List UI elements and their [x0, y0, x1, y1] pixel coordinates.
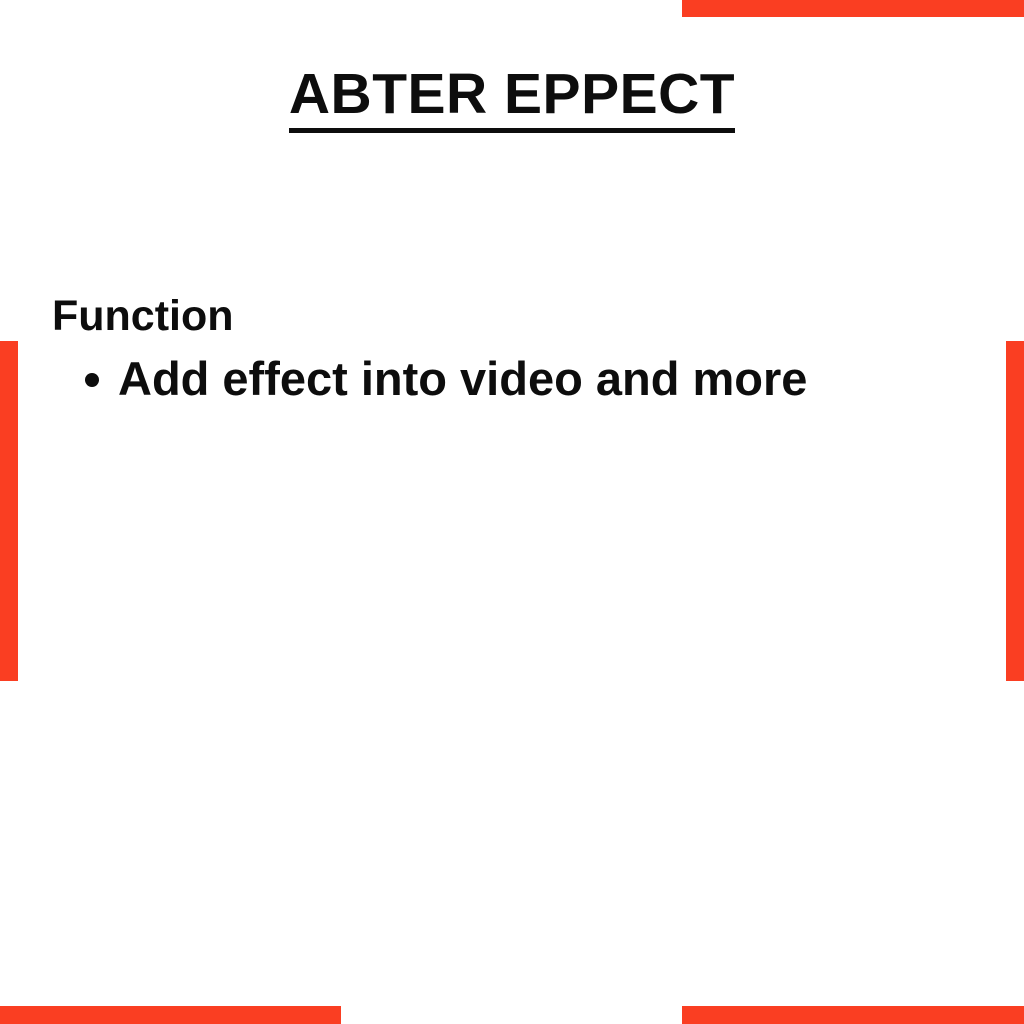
- decorative-bar-bottom-right: [682, 1006, 1024, 1024]
- slide-body: Function Add effect into video and more: [52, 292, 952, 408]
- slide-title: ABTER EPPECT: [289, 66, 735, 133]
- slide-title-container: ABTER EPPECT: [0, 28, 1024, 171]
- decorative-bar-top-right: [682, 0, 1024, 17]
- bullet-dot-icon: [85, 373, 99, 387]
- decorative-bar-bottom-left: [0, 1006, 341, 1024]
- decorative-bar-left: [0, 341, 18, 681]
- section-heading-function: Function: [52, 292, 952, 341]
- list-item-label: Add effect into video and more: [118, 352, 807, 405]
- slide-canvas: ABTER EPPECT Function Add effect into vi…: [0, 0, 1024, 1024]
- decorative-bar-right: [1006, 341, 1024, 681]
- function-bullet-list: Add effect into video and more: [52, 351, 952, 407]
- list-item: Add effect into video and more: [52, 351, 952, 407]
